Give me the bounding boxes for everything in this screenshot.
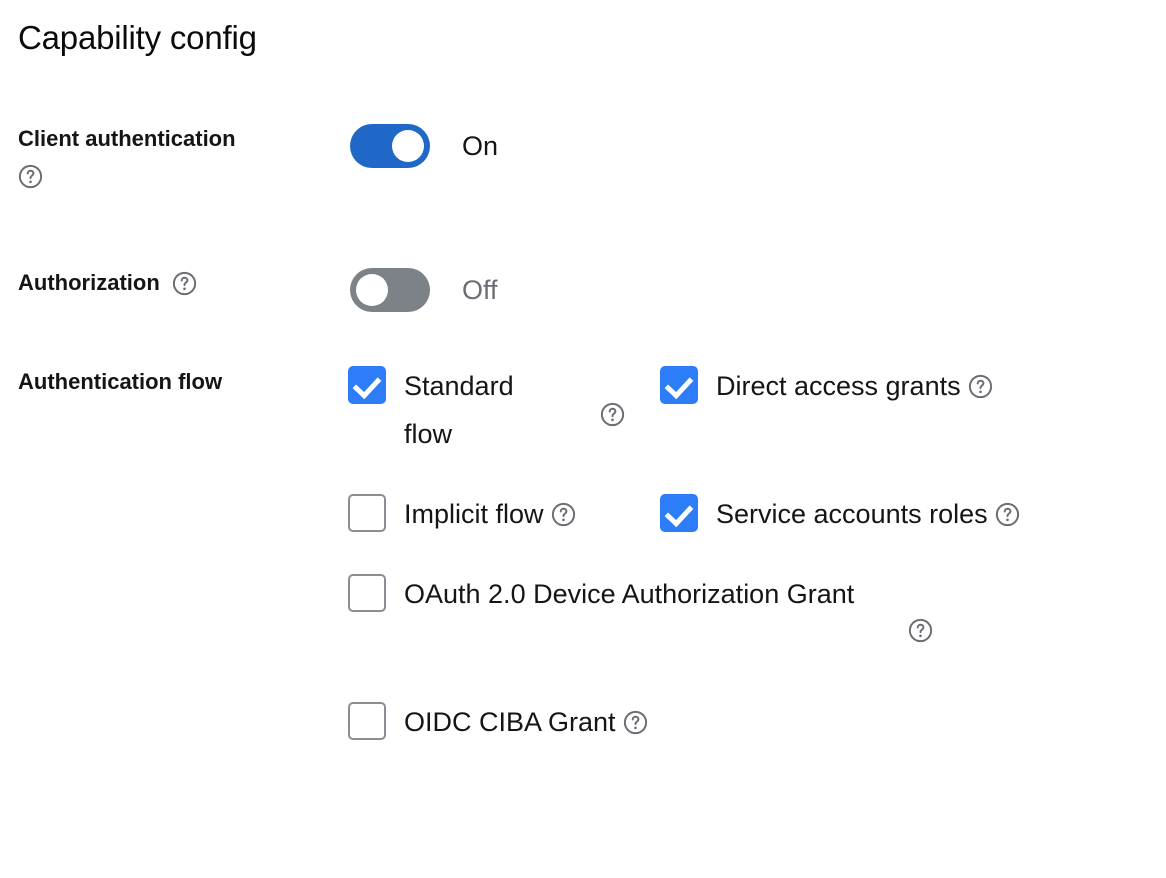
authorization-label: Authorization <box>18 268 160 298</box>
direct-access-grants-label: Direct access grants <box>716 362 993 410</box>
help-circle-icon[interactable] <box>600 402 625 427</box>
flow-option-row: Implicit flow Service accounts roles <box>348 490 1148 570</box>
implicit-flow-checkbox[interactable] <box>348 494 386 532</box>
authorization-toggle-state: Off <box>462 274 498 306</box>
standard-flow-checkbox[interactable] <box>348 366 386 404</box>
client-authentication-label-group: Client authentication <box>18 124 328 189</box>
client-authentication-toggle-state: On <box>462 130 498 162</box>
service-accounts-roles-checkbox[interactable] <box>660 494 698 532</box>
help-circle-icon[interactable] <box>551 502 576 527</box>
authentication-flow-label-group: Authentication flow <box>18 367 328 397</box>
flow-option-row: OIDC CIBA Grant <box>348 698 1148 778</box>
toggle-knob <box>356 274 388 306</box>
page-title: Capability config <box>18 18 257 58</box>
authorization-toggle[interactable] <box>350 268 430 312</box>
authentication-flow-label: Authentication flow <box>18 369 222 394</box>
help-circle-icon[interactable] <box>995 502 1020 527</box>
implicit-flow-label: Implicit flow <box>404 490 576 538</box>
authorization-label-group: Authorization <box>18 268 328 298</box>
oauth-device-authorization-grant-checkbox[interactable] <box>348 574 386 612</box>
flow-option-service-accounts-roles[interactable]: Service accounts roles <box>660 490 1090 538</box>
direct-access-grants-checkbox[interactable] <box>660 366 698 404</box>
help-circle-icon[interactable] <box>968 374 993 399</box>
service-accounts-roles-label: Service accounts roles <box>716 490 1020 538</box>
help-circle-icon[interactable] <box>18 164 43 189</box>
oidc-ciba-grant-checkbox[interactable] <box>348 702 386 740</box>
authentication-flow-options: Standard flow Direct access grants Impli… <box>348 362 1148 778</box>
implicit-flow-label-text: Implicit flow <box>404 499 544 529</box>
direct-access-grants-label-text: Direct access grants <box>716 371 961 401</box>
client-authentication-toggle-group: On <box>350 124 498 168</box>
flow-option-implicit-flow[interactable]: Implicit flow <box>348 490 648 538</box>
flow-option-row: OAuth 2.0 Device Authorization Grant <box>348 570 1148 698</box>
capability-config-panel: Capability config Client authentication … <box>0 0 1166 878</box>
help-circle-icon[interactable] <box>908 618 933 643</box>
flow-option-oidc-ciba-grant[interactable]: OIDC CIBA Grant <box>348 698 768 746</box>
standard-flow-label: Standard flow <box>404 362 554 458</box>
client-authentication-label: Client authentication <box>18 126 236 151</box>
authorization-toggle-group: Off <box>350 268 498 312</box>
oidc-ciba-grant-label: OIDC CIBA Grant <box>404 698 648 746</box>
oidc-ciba-grant-label-text: OIDC CIBA Grant <box>404 707 616 737</box>
client-authentication-toggle[interactable] <box>350 124 430 168</box>
flow-option-row: Standard flow Direct access grants <box>348 362 1148 490</box>
service-accounts-roles-label-text: Service accounts roles <box>716 499 988 529</box>
help-circle-icon[interactable] <box>623 710 648 735</box>
help-circle-icon[interactable] <box>172 271 197 296</box>
flow-option-direct-access-grants[interactable]: Direct access grants <box>660 362 1090 410</box>
oauth-device-authorization-grant-label: OAuth 2.0 Device Authorization Grant <box>404 570 854 618</box>
toggle-knob <box>392 130 424 162</box>
flow-option-oauth-device-authorization-grant[interactable]: OAuth 2.0 Device Authorization Grant <box>348 570 868 618</box>
